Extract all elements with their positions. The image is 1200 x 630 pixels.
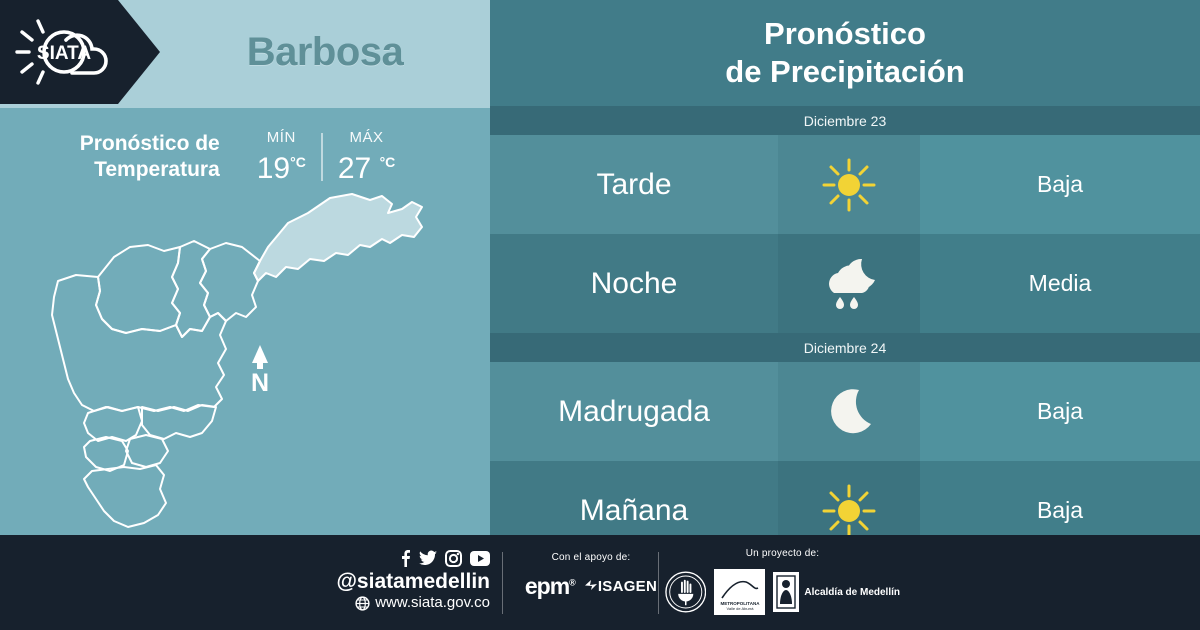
temperature-min-label: MÍN <box>267 129 296 146</box>
temperature-min-value: 19°C <box>257 146 306 185</box>
forecast-row[interactable]: Noche Media <box>490 234 1200 333</box>
twitter-icon[interactable] <box>419 549 437 567</box>
map-region-barbosa <box>254 194 422 281</box>
date-band-2: Diciembre 24 <box>490 333 1200 362</box>
alcaldia-mark-icon <box>773 572 799 612</box>
youtube-icon[interactable] <box>470 551 490 566</box>
support-caption: Con el apoyo de: <box>516 552 666 563</box>
temperature-title-line1: Pronóstico de <box>80 131 220 157</box>
forecast-probability: Baja <box>920 362 1200 461</box>
map-region-caldas <box>84 465 166 527</box>
map-region-la-estrella <box>84 437 128 471</box>
map-region-bello <box>96 245 180 333</box>
alcaldia-logo: Alcaldía de Medellín <box>773 572 900 612</box>
svg-text:Valle de Aburrá: Valle de Aburrá <box>726 606 754 611</box>
social-block: @siatamedellin www.siata.gov.co <box>330 548 490 612</box>
temperature-max-unit: °C <box>380 154 396 170</box>
forecast-period: Madrugada <box>490 362 778 461</box>
map-region-girardota <box>200 243 260 321</box>
project-caption: Un proyecto de: <box>665 548 900 559</box>
forecast-row[interactable]: Tarde <box>490 135 1200 234</box>
sun-icon <box>821 483 877 539</box>
date-band-1: Diciembre 23 <box>490 106 1200 135</box>
website-row[interactable]: www.siata.gov.co <box>330 594 490 612</box>
temperature-max-value: 27 °C <box>338 146 395 185</box>
forecast-probability: Baja <box>920 135 1200 234</box>
support-block: Con el apoyo de: epm® ISAGEN <box>516 552 666 600</box>
left-panel: SIATA Barbosa Pronóstico de Temperatura … <box>0 0 490 535</box>
forecast-period: Tarde <box>490 135 778 234</box>
map-region-medellin <box>52 275 226 411</box>
forecast-row[interactable]: Madrugada Baja <box>490 362 1200 461</box>
city-name: Barbosa <box>160 0 490 104</box>
map-region-itagui <box>84 407 142 441</box>
area-metropolitana-logo: METROPOLITANA Valle de Aburrá <box>714 569 765 615</box>
map-svg: N <box>30 185 460 530</box>
forecast-title-line2: de Precipitación <box>725 54 964 89</box>
website-url: www.siata.gov.co <box>375 594 490 612</box>
forecast-probability: Media <box>920 234 1200 333</box>
weather-infographic: SIATA Barbosa Pronóstico de Temperatura … <box>0 0 1200 630</box>
forecast-title: Pronóstico de Precipitación <box>725 15 964 91</box>
social-handle[interactable]: @siatamedellin <box>330 570 490 594</box>
temperature-title-line2: Temperatura <box>80 157 220 183</box>
temperature-values: MÍN 19°C MÁX 27 °C <box>242 129 411 185</box>
social-icon-row <box>330 548 490 568</box>
isagen-logo: ISAGEN <box>585 578 657 595</box>
map-region-sabaneta <box>126 435 168 467</box>
forecast-period: Noche <box>490 234 778 333</box>
universidad-seal-icon <box>665 570 706 614</box>
forecast-icon-cell <box>778 234 920 333</box>
isagen-mark-icon <box>585 579 598 592</box>
epm-logo: epm® <box>525 573 575 600</box>
temperature-min: MÍN 19°C <box>242 129 321 185</box>
compass-north: N <box>251 345 269 397</box>
siata-logo-text: SIATA <box>37 43 91 64</box>
temperature-max-label: MÁX <box>350 129 384 146</box>
footer-divider-2 <box>658 552 659 614</box>
facebook-icon[interactable] <box>399 549 411 567</box>
forecast-icon-cell <box>778 135 920 234</box>
support-logos: epm® ISAGEN <box>516 573 666 600</box>
forecast-header: Pronóstico de Precipitación <box>490 0 1200 106</box>
footer-divider-1 <box>502 552 503 614</box>
sun-cloud-icon: SIATA <box>14 14 118 90</box>
forecast-rows: Diciembre 23 Tarde <box>490 106 1200 560</box>
moon-icon <box>823 386 875 438</box>
instagram-icon[interactable] <box>445 550 462 567</box>
sun-icon <box>821 157 877 213</box>
project-logos: METROPOLITANA Valle de Aburrá Alcaldía d… <box>665 569 900 615</box>
forecast-icon-cell <box>778 362 920 461</box>
temperature-min-unit: °C <box>290 154 306 170</box>
alcaldia-label: Alcaldía de Medellín <box>804 587 900 598</box>
aburra-valley-map: N <box>30 185 460 530</box>
compass-label: N <box>251 369 269 397</box>
globe-icon <box>355 596 370 611</box>
moon-cloud-rain-icon <box>818 255 880 313</box>
temperature-max: MÁX 27 °C <box>323 129 410 185</box>
forecast-title-line1: Pronóstico <box>764 16 926 51</box>
project-block: Un proyecto de: METROPOLITANA Valle de A… <box>665 548 900 615</box>
forecast-panel: Pronóstico de Precipitación Diciembre 23… <box>490 0 1200 535</box>
temperature-title: Pronóstico de Temperatura <box>80 131 220 183</box>
